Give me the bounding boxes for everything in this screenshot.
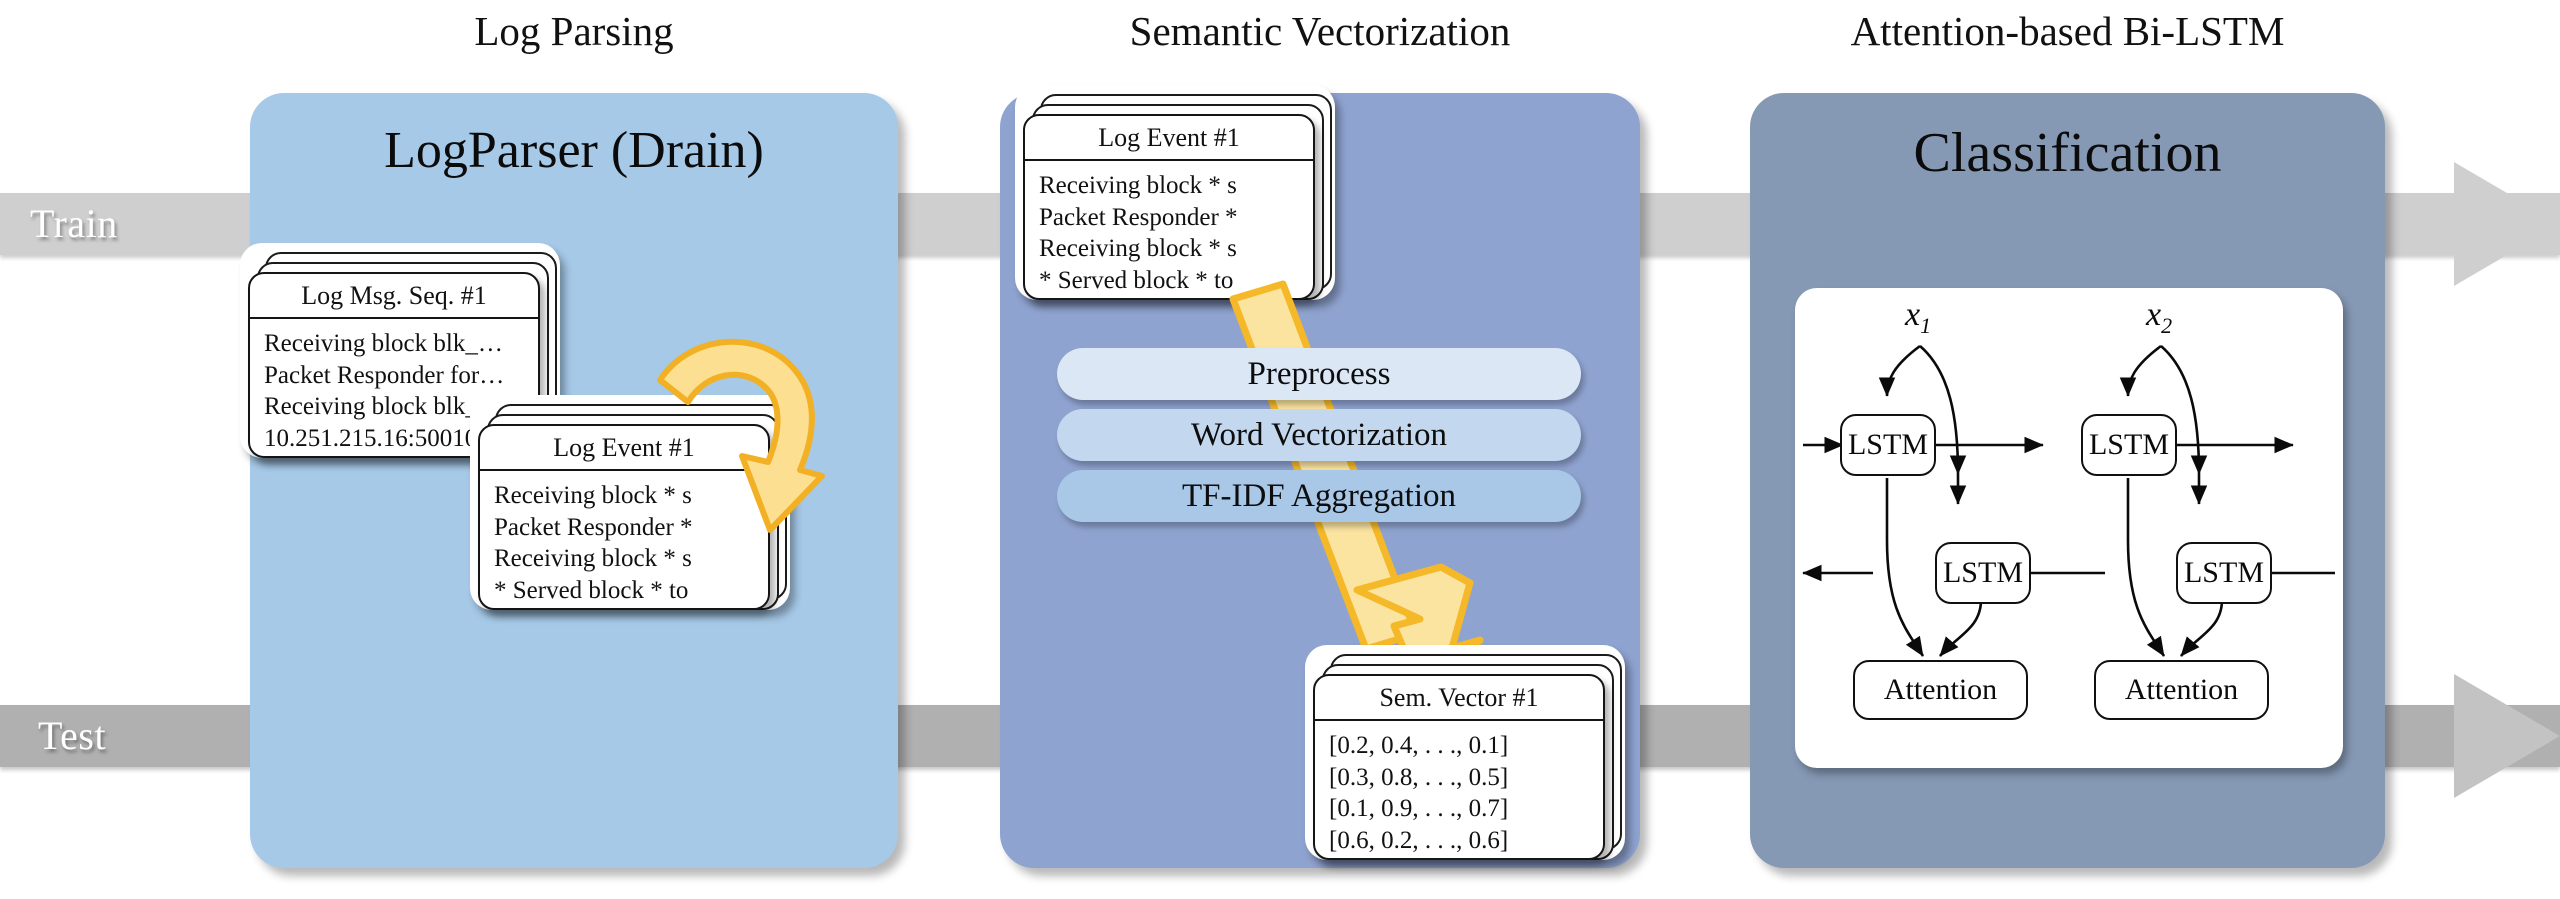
diagram-canvas: Train Test Log Parsing LogParser (Drain)…: [0, 0, 2560, 899]
card-log-event: Log Event #1 Receiving block * s Packet …: [478, 424, 770, 610]
card-line: * Served block * to: [494, 575, 754, 607]
card-line: Packet Responder for…: [264, 360, 524, 392]
lstm-forward-cell-1[interactable]: LSTM: [1840, 414, 1936, 476]
pipeline-step-tfidf-aggregation[interactable]: TF-IDF Aggregation: [1057, 470, 1581, 522]
pipeline-step-label: Word Vectorization: [1191, 417, 1447, 453]
card-line: Receiving block * s: [494, 480, 754, 512]
stage-title-attention-bilstm: Attention-based Bi-LSTM: [1750, 7, 2385, 55]
card-title: Sem. Vector #1: [1315, 676, 1603, 721]
stage-title-semantic-vectorization: Semantic Vectorization: [1000, 7, 1640, 55]
card-line: [0.2, 0.4, . . ., 0.1]: [1329, 730, 1589, 762]
input-symbol: x: [1905, 296, 1920, 333]
card-stack-sem-vector: Sem. Vector #1 [0.2, 0.4, . . ., 0.1] [0…: [1305, 645, 1665, 895]
input-subscript: 1: [1920, 313, 1931, 338]
card-line: Packet Responder *: [494, 512, 754, 544]
stage-title-log-parsing: Log Parsing: [250, 7, 898, 55]
train-arrowhead: [2454, 162, 2560, 286]
card-line: [0.1, 0.9, . . ., 0.7]: [1329, 793, 1589, 825]
pipeline-step-label: TF-IDF Aggregation: [1182, 478, 1456, 514]
train-band-label: Train: [30, 193, 118, 255]
input-symbol: x: [2146, 296, 2161, 333]
card-sem-vector: Sem. Vector #1 [0.2, 0.4, . . ., 0.1] [0…: [1313, 674, 1605, 860]
pipeline-step-word-vectorization[interactable]: Word Vectorization: [1057, 409, 1581, 461]
card-body: Receiving block * s Packet Responder * R…: [480, 471, 768, 610]
input-label-x1: x1: [1905, 296, 1931, 339]
input-subscript: 2: [2161, 313, 2172, 338]
stage-heading-logparser: LogParser (Drain): [250, 121, 898, 180]
card-line: Receiving block * s: [494, 543, 754, 575]
card-line: Receiving block blk_…: [264, 328, 524, 360]
bilstm-network-board: x1 x2 LSTM LSTM LSTM LSTM Attention Atte…: [1795, 288, 2343, 768]
pipeline-step-preprocess[interactable]: Preprocess: [1057, 348, 1581, 400]
pipeline-step-label: Preprocess: [1248, 356, 1391, 392]
lstm-backward-cell-1[interactable]: LSTM: [1935, 542, 2031, 604]
card-title: Log Msg. Seq. #1: [250, 274, 538, 319]
card-body: [0.2, 0.4, . . ., 0.1] [0.3, 0.8, . . .,…: [1315, 721, 1603, 860]
card-title: Log Event #1: [480, 426, 768, 471]
input-label-x2: x2: [2146, 296, 2172, 339]
stage-panel-log-parsing: LogParser (Drain) Log Msg. Seq. #1 Recei…: [250, 93, 898, 868]
card-line: [0.3, 0.8, . . ., 0.5]: [1329, 762, 1589, 794]
attention-cell-2[interactable]: Attention: [2094, 660, 2269, 720]
lstm-backward-cell-2[interactable]: LSTM: [2176, 542, 2272, 604]
ribbon-shaft: [1233, 284, 1416, 649]
stage-panel-semantic-vectorization: Log Event #1 Receiving block * s Packet …: [1000, 93, 1640, 868]
lstm-forward-cell-2[interactable]: LSTM: [2081, 414, 2177, 476]
test-arrowhead: [2454, 674, 2560, 798]
card-line-ellipsis: . . .: [494, 606, 754, 610]
card-stack-log-event: Log Event #1 Receiving block * s Packet …: [470, 395, 830, 645]
card-line: [0.6, 0.2, . . ., 0.6]: [1329, 825, 1589, 857]
card-line-ellipsis: . . .: [1329, 856, 1589, 860]
stage-heading-classification: Classification: [1750, 121, 2385, 185]
test-band-label: Test: [38, 705, 106, 767]
attention-cell-1[interactable]: Attention: [1853, 660, 2028, 720]
